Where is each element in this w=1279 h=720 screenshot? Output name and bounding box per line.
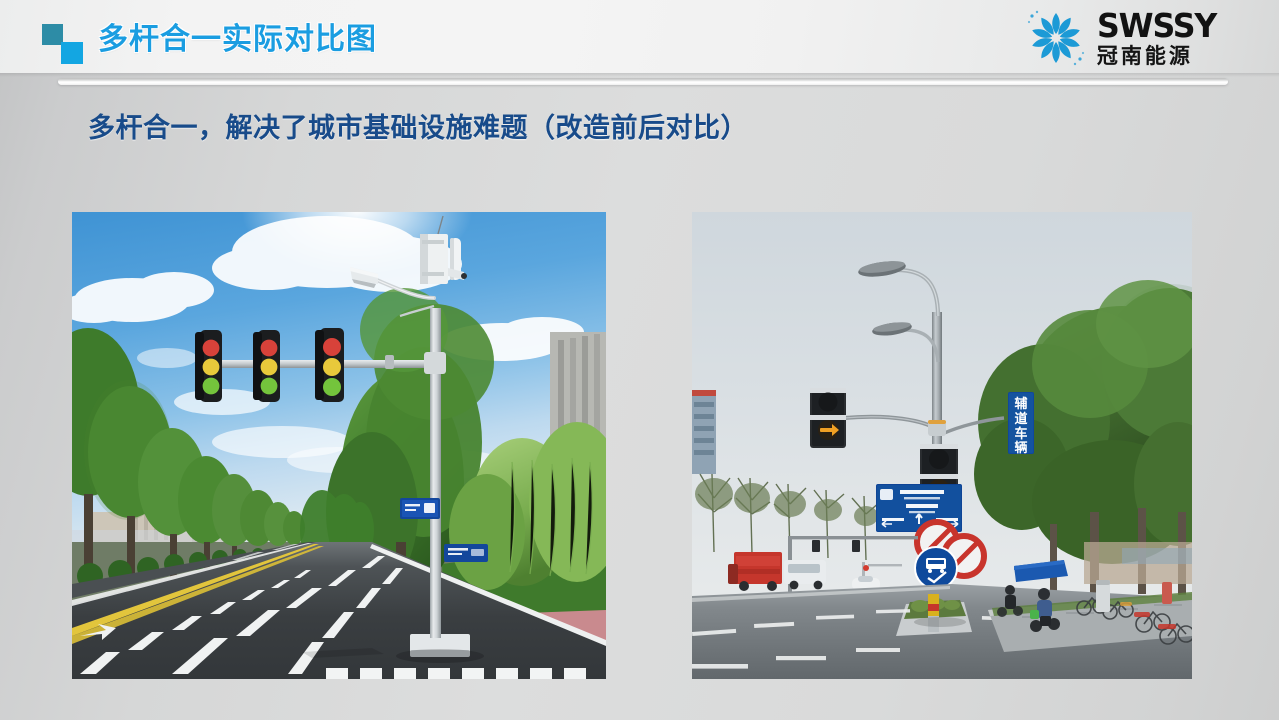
decoration-square-light [61,42,83,64]
svg-text:道: 道 [1014,411,1027,426]
title-decoration-squares-icon [40,24,84,64]
slide-subtitle: 多杆合一，解决了城市基础设施难题（改造前后对比） [88,106,748,145]
svg-text:车: 车 [1014,426,1027,441]
water-droplet-flower-logo-icon [1025,7,1087,69]
logo-text-block: SWSSY 冠南能源 [1097,9,1221,67]
decoration-square-dark [42,24,63,45]
comparison-image-rendering [72,212,606,679]
svg-text:辅: 辅 [1014,396,1027,411]
presentation-slide: 多杆合一实际对比图 [0,0,1279,720]
logo-wordmark: SWSSY [1097,9,1216,42]
logo-company-name-cn: 冠南能源 [1097,46,1193,67]
comparison-image-photo: 辅 道 车 辆 [692,212,1192,679]
header-divider [58,78,1228,85]
svg-text:辆: 辆 [1014,440,1027,455]
page-title: 多杆合一实际对比图 [98,18,377,62]
header-shadow [0,73,1279,77]
company-logo: SWSSY 冠南能源 [1025,6,1221,70]
